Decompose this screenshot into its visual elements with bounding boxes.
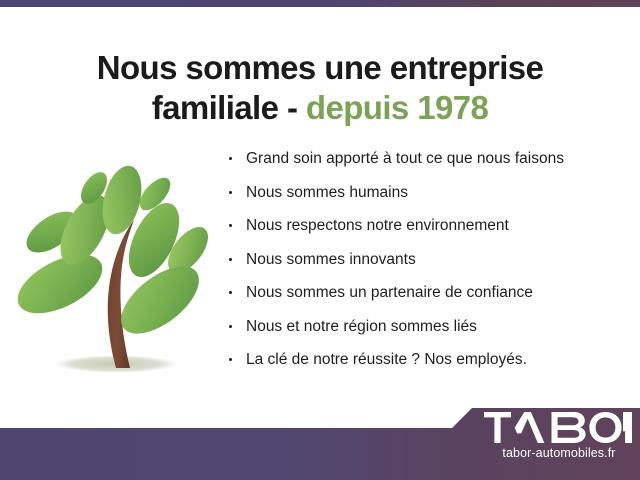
list-item-label: Nous sommes innovants [246,251,416,268]
bullet-dot-icon [229,224,232,227]
bullet-dot-icon [229,291,232,294]
headline-accent-text: depuis 1978 [306,89,488,126]
tree-illustration [12,152,220,384]
list-item: Nous et notre région sommes liés [228,317,632,336]
bullet-dot-icon [229,325,232,328]
bullet-dot-icon [229,258,232,261]
list-item-label: Nous respectons notre environnement [246,217,509,234]
top-accent-bar [0,0,640,7]
bullet-dot-icon [229,191,232,194]
headline-line-2: familiale - depuis 1978 [0,88,640,128]
logo-tagline: tabor-automobiles.fr [484,446,634,460]
slide-canvas: Nous sommes une entreprise familiale - d… [0,0,640,480]
list-item-label: Nous et notre région sommes liés [246,318,477,335]
brand-logo[interactable]: tabor-automobiles.fr [484,412,634,460]
list-item-label: Nous sommes humains [246,184,408,201]
list-item-label: La clé de notre réussite ? Nos employés. [246,351,527,368]
headline-line-1: Nous sommes une entreprise [97,49,544,86]
benefits-list: Grand soin apporté à tout ce que nous fa… [228,149,632,384]
tabor-wordmark-icon [484,412,632,443]
list-item-label: Grand soin apporté à tout ce que nous fa… [246,150,564,167]
bullet-dot-icon [229,358,232,361]
list-item: Nous sommes humains [228,183,632,202]
headline-line-2-plain: familiale - [152,89,306,126]
list-item-label: Nous sommes un partenaire de confiance [246,284,533,301]
tree-trunk [108,220,134,368]
page-title: Nous sommes une entreprise familiale - d… [0,48,640,128]
list-item: Grand soin apporté à tout ce que nous fa… [228,149,632,168]
leaf-right-lower [110,254,211,347]
list-item: Nous sommes innovants [228,250,632,269]
list-item: Nous sommes un partenaire de confiance [228,283,632,302]
list-item: La clé de notre réussite ? Nos employés. [228,350,632,369]
bullet-dot-icon [229,157,232,160]
list-item: Nous respectons notre environnement [228,216,632,235]
